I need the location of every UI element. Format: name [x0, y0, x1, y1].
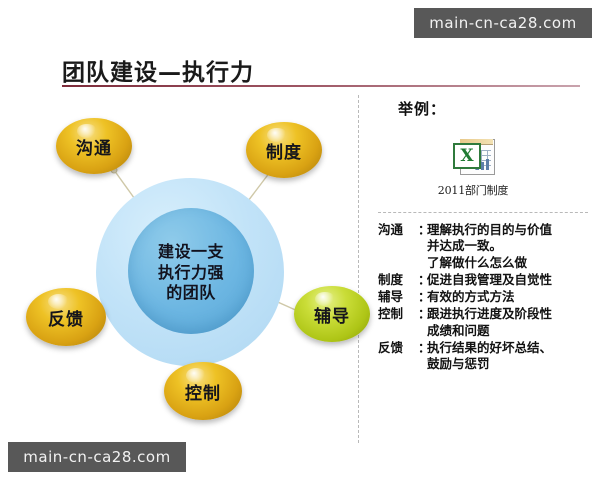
bullet-line: 成绩和问题: [427, 323, 594, 339]
center-label: 建设一支 执行力强 的团队: [128, 213, 254, 333]
example-panel: 举例： X 2011部门制度 沟通 ：: [372, 98, 594, 373]
center-line-2: 执行力强: [158, 263, 224, 283]
bullet-colon: ：: [418, 272, 427, 288]
bullet-value: 有效的方式方法: [427, 289, 594, 305]
watermark-top: main-cn-ca28.com: [414, 8, 592, 38]
bullet-line: 促进自我管理及自觉性: [427, 272, 594, 288]
panel-heading: 举例：: [398, 98, 594, 119]
bullet-key: 沟通: [378, 222, 418, 271]
bullet-line: 并达成一致。: [427, 238, 594, 254]
bullet-list: 沟通 ： 理解执行的目的与价值 并达成一致。 了解做什么怎么做 制度 ： 促进自…: [378, 222, 594, 372]
node-zhidu[interactable]: 制度: [246, 122, 322, 178]
node-fankui[interactable]: 反馈: [26, 288, 106, 346]
node-label: 辅导: [314, 302, 350, 327]
list-item: 制度 ： 促进自我管理及自觉性: [378, 272, 594, 288]
bullet-line: 跟进执行进度及阶段性: [427, 306, 594, 322]
bullet-key: 控制: [378, 306, 418, 339]
excel-x-glyph: X: [460, 148, 473, 165]
bullet-key: 制度: [378, 272, 418, 288]
hub-and-spoke-diagram: 建设一支 执行力强 的团队 沟通 制度 辅导 控制 反馈: [18, 100, 354, 440]
bullet-value: 促进自我管理及自觉性: [427, 272, 594, 288]
node-label: 制度: [266, 138, 302, 163]
list-item: 反馈 ： 执行结果的好坏总结、 鼓励与惩罚: [378, 340, 594, 373]
bullet-key: 反馈: [378, 340, 418, 373]
list-item: 控制 ： 跟进执行进度及阶段性 成绩和问题: [378, 306, 594, 339]
excel-x-badge: X: [453, 143, 481, 169]
bullet-colon: ：: [418, 222, 427, 271]
bullet-value: 理解执行的目的与价值 并达成一致。 了解做什么怎么做: [427, 222, 594, 271]
bullet-line: 了解做什么怎么做: [427, 255, 594, 271]
page-title: 团队建设—执行力: [62, 53, 254, 87]
watermark-bottom: main-cn-ca28.com: [8, 442, 186, 472]
bullet-line: 有效的方式方法: [427, 289, 594, 305]
example-file-block[interactable]: X 2011部门制度: [394, 137, 552, 198]
file-caption: 2011部门制度: [438, 182, 508, 198]
center-line-1: 建设一支: [158, 242, 224, 262]
bullet-value: 执行结果的好坏总结、 鼓励与惩罚: [427, 340, 594, 373]
node-goutong[interactable]: 沟通: [56, 118, 132, 174]
bullet-key: 辅导: [378, 289, 418, 305]
node-fudao[interactable]: 辅导: [294, 286, 370, 342]
excel-file-icon[interactable]: X: [451, 137, 495, 177]
node-kongzhi[interactable]: 控制: [164, 362, 242, 420]
bullet-line: 鼓励与惩罚: [427, 356, 594, 372]
bullet-value: 跟进执行进度及阶段性 成绩和问题: [427, 306, 594, 339]
bullet-line: 理解执行的目的与价值: [427, 222, 594, 238]
bullet-colon: ：: [418, 340, 427, 373]
list-item: 沟通 ： 理解执行的目的与价值 并达成一致。 了解做什么怎么做: [378, 222, 594, 271]
node-label: 反馈: [48, 305, 84, 330]
node-label: 沟通: [76, 134, 112, 159]
bullet-line: 执行结果的好坏总结、: [427, 340, 594, 356]
bullet-colon: ：: [418, 306, 427, 339]
title-underline: [62, 85, 580, 87]
center-line-3: 的团队: [166, 283, 216, 303]
panel-horizontal-divider: [378, 212, 588, 213]
node-label: 控制: [185, 379, 221, 404]
list-item: 辅导 ： 有效的方式方法: [378, 289, 594, 305]
vertical-dashed-divider: [358, 95, 359, 443]
slide-canvas: main-cn-ca28.com main-cn-ca28.com 团队建设—执…: [0, 0, 600, 480]
bullet-colon: ：: [418, 289, 427, 305]
